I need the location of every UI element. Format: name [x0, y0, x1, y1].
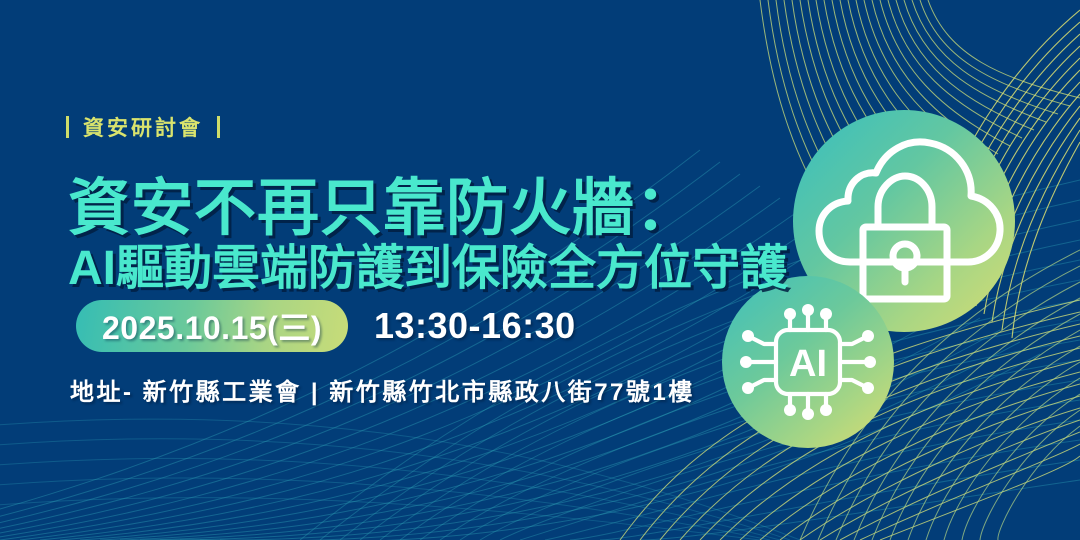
ai-chip-badge: AI — [722, 276, 894, 448]
eyebrow-right-rule — [217, 116, 220, 138]
eyebrow-label: 資安研討會 — [66, 112, 220, 142]
banner-content: 資安研討會 資安不再只靠防火牆： AI驅動雲端防護到保險全方位守護 2025.1… — [0, 0, 730, 540]
ai-chip-icon: AI — [722, 276, 894, 448]
title-line-2: AI驅動雲端防護到保險全方位守護 — [68, 228, 788, 298]
ai-chip-label: AI — [789, 343, 827, 385]
time-text: 13:30-16:30 — [374, 305, 576, 347]
date-time-row: 2025.10.15(三) 13:30-16:30 — [76, 300, 576, 352]
eyebrow-text: 資安研討會 — [83, 112, 203, 142]
eyebrow-left-rule — [66, 116, 69, 138]
event-banner: AI 資安研討會 資安不再只靠防火牆： AI驅動雲端防護到保險全方位守護 202… — [0, 0, 1080, 540]
address-line: 地址- 新竹縣工業會 | 新竹縣竹北市縣政八街77號1樓 — [70, 372, 695, 407]
date-pill: 2025.10.15(三) — [76, 300, 348, 352]
